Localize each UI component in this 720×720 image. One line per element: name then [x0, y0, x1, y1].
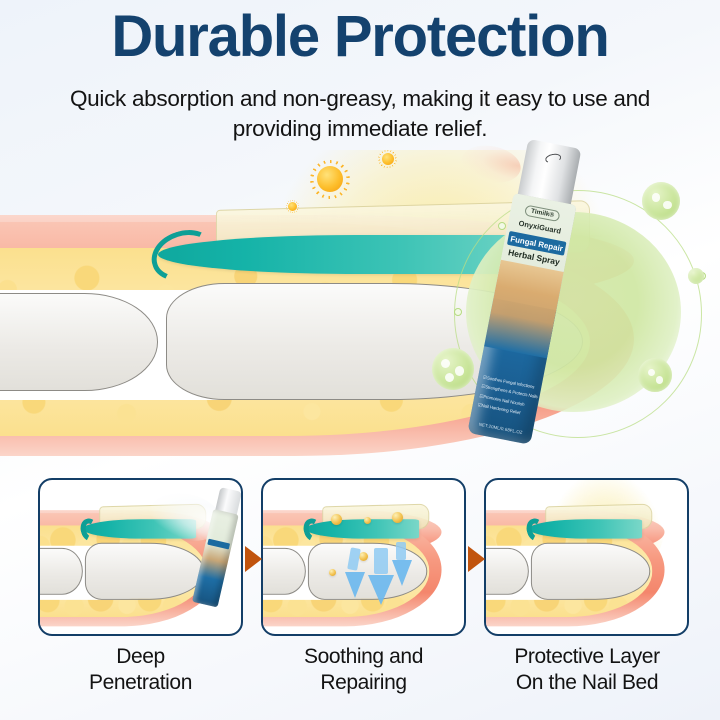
green-molecule-icon [688, 268, 704, 284]
orbit-node [454, 308, 462, 316]
bone-segment-proximal [484, 548, 529, 595]
virus-germ-icon [317, 166, 343, 192]
bone-segment-proximal [0, 293, 158, 391]
infographic-canvas: Durable Protection Quick absorption and … [0, 0, 720, 720]
product-name-strip [207, 539, 230, 550]
nail-anatomy-diagram [484, 478, 689, 635]
caption-line: Penetration [38, 670, 243, 696]
benefit-list: Soothes Fungal Infections Strengthens & … [477, 374, 539, 419]
step-caption-protective-layer: Protective Layer On the Nail Bed [478, 644, 696, 697]
step-panel-protective-layer[interactable] [484, 478, 689, 636]
down-arrow-icon [345, 572, 365, 598]
nail-plate-treated [529, 519, 642, 538]
step-sequence: Deep Penetration Soothing and Repairing … [0, 478, 720, 720]
caption-line: Soothing and [261, 644, 466, 670]
down-arrow-icon [374, 548, 388, 574]
chevron-right-arrow-icon [245, 546, 262, 572]
product-showcase: Timilk® OnyxiGuard Fungal Repair Herbal … [430, 140, 720, 470]
down-arrow-icon [368, 575, 394, 605]
virus-germ-icon [288, 202, 297, 211]
bottle-label-artwork [484, 260, 564, 358]
caption-line: Repairing [261, 670, 466, 696]
step-panel-soothing-repairing[interactable] [261, 478, 466, 636]
caption-line: Deep [38, 644, 243, 670]
oil-droplet-icon [364, 517, 371, 524]
bone-segment-proximal [38, 548, 83, 595]
spray-nozzle-icon [545, 152, 562, 164]
bone-segment-proximal [261, 548, 306, 595]
chevron-right-arrow-icon [468, 546, 485, 572]
bone-segment-distal [85, 543, 204, 600]
brand-badge: Timilk® [524, 205, 561, 223]
green-molecule-icon [642, 182, 680, 220]
nail-plate-treated [306, 519, 419, 538]
spray-mist [458, 141, 524, 188]
caption-line: On the Nail Bed [478, 670, 696, 696]
bone-segment-distal [531, 543, 650, 600]
down-arrow-icon [392, 560, 412, 586]
page-subtitle: Quick absorption and non-greasy, making … [60, 84, 660, 144]
virus-germ-icon [382, 153, 394, 165]
page-title: Durable Protection [0, 6, 720, 67]
step-caption-soothing-repairing: Soothing and Repairing [261, 644, 466, 697]
net-contents: NET:20ML/0.68FL.OZ [469, 420, 533, 437]
step-caption-deep-penetration: Deep Penetration [38, 644, 243, 697]
caption-line: Protective Layer [478, 644, 696, 670]
green-molecule-icon [638, 358, 672, 392]
down-arrow-icon [396, 542, 406, 560]
oil-droplet-icon [392, 512, 403, 523]
step-panel-deep-penetration[interactable] [38, 478, 243, 636]
